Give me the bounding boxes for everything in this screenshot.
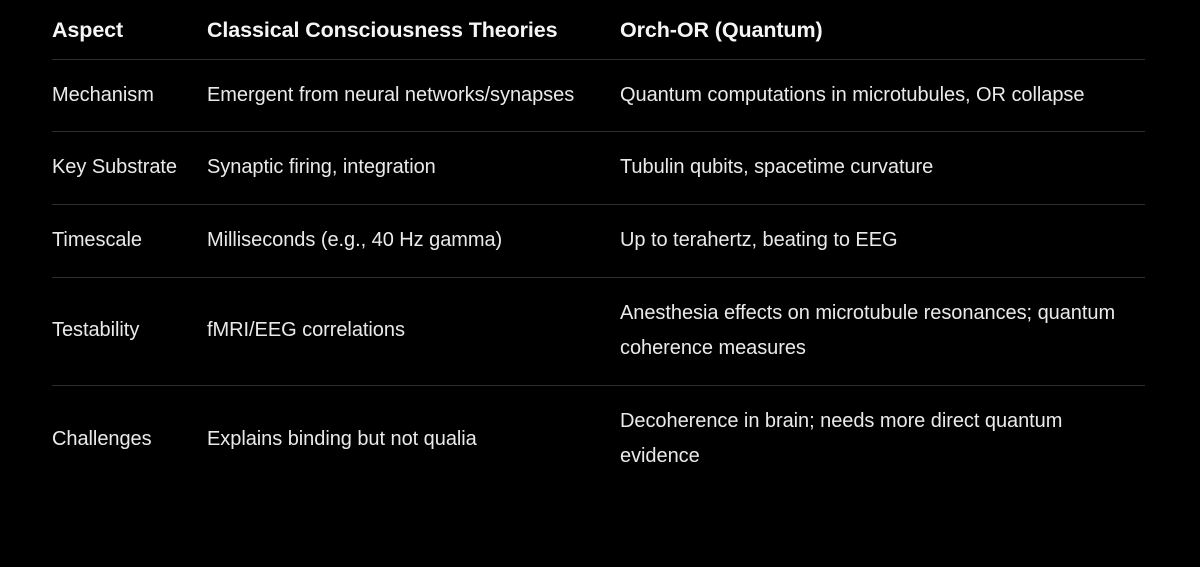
table-header: Aspect Classical Consciousness Theories … (52, 0, 1145, 59)
cell-classical: Synaptic firing, integration (207, 132, 620, 205)
cell-classical-text: Milliseconds (e.g., 40 Hz gamma) (207, 223, 596, 259)
column-header-classical: Classical Consciousness Theories (207, 0, 620, 59)
column-header-aspect: Aspect (52, 0, 207, 59)
table-body: Mechanism Emergent from neural networks/… (52, 59, 1145, 493)
cell-classical-text: fMRI/EEG correlations (207, 313, 596, 349)
cell-aspect: Key Substrate (52, 132, 207, 205)
cell-orch-or: Quantum computations in microtubules, OR… (620, 59, 1145, 132)
table-row: Key Substrate Synaptic firing, integrati… (52, 132, 1145, 205)
cell-orch-or: Decoherence in brain; needs more direct … (620, 385, 1145, 493)
cell-orch-or: Tubulin qubits, spacetime curvature (620, 132, 1145, 205)
cell-classical: Explains binding but not qualia (207, 385, 620, 493)
cell-orch-or-text: Up to terahertz, beating to EEG (620, 223, 1145, 259)
cell-orch-or-text: Anesthesia effects on microtubule resona… (620, 296, 1145, 367)
table-header-row: Aspect Classical Consciousness Theories … (52, 0, 1145, 59)
cell-aspect-text: Mechanism (52, 78, 189, 114)
cell-orch-or: Anesthesia effects on microtubule resona… (620, 277, 1145, 385)
comparison-table: Aspect Classical Consciousness Theories … (52, 0, 1145, 493)
cell-aspect: Challenges (52, 385, 207, 493)
cell-aspect-text: Challenges (52, 422, 189, 458)
table-row: Timescale Milliseconds (e.g., 40 Hz gamm… (52, 205, 1145, 278)
cell-aspect: Testability (52, 277, 207, 385)
table-row: Testability fMRI/EEG correlations Anesth… (52, 277, 1145, 385)
cell-aspect-text: Testability (52, 313, 189, 349)
cell-aspect: Mechanism (52, 59, 207, 132)
cell-classical: Milliseconds (e.g., 40 Hz gamma) (207, 205, 620, 278)
cell-orch-or-text: Quantum computations in microtubules, OR… (620, 78, 1145, 114)
cell-aspect: Timescale (52, 205, 207, 278)
table-row: Challenges Explains binding but not qual… (52, 385, 1145, 493)
table-row: Mechanism Emergent from neural networks/… (52, 59, 1145, 132)
comparison-table-container: Aspect Classical Consciousness Theories … (0, 0, 1200, 567)
cell-classical-text: Explains binding but not qualia (207, 422, 596, 458)
cell-classical-text: Emergent from neural networks/synapses (207, 78, 596, 114)
column-header-orch-or: Orch-OR (Quantum) (620, 0, 1145, 59)
cell-orch-or: Up to terahertz, beating to EEG (620, 205, 1145, 278)
cell-aspect-text: Timescale (52, 223, 189, 259)
cell-classical-text: Synaptic firing, integration (207, 150, 596, 186)
cell-orch-or-text: Decoherence in brain; needs more direct … (620, 404, 1145, 475)
cell-aspect-text: Key Substrate (52, 150, 189, 186)
cell-classical: fMRI/EEG correlations (207, 277, 620, 385)
cell-classical: Emergent from neural networks/synapses (207, 59, 620, 132)
cell-orch-or-text: Tubulin qubits, spacetime curvature (620, 150, 1145, 186)
